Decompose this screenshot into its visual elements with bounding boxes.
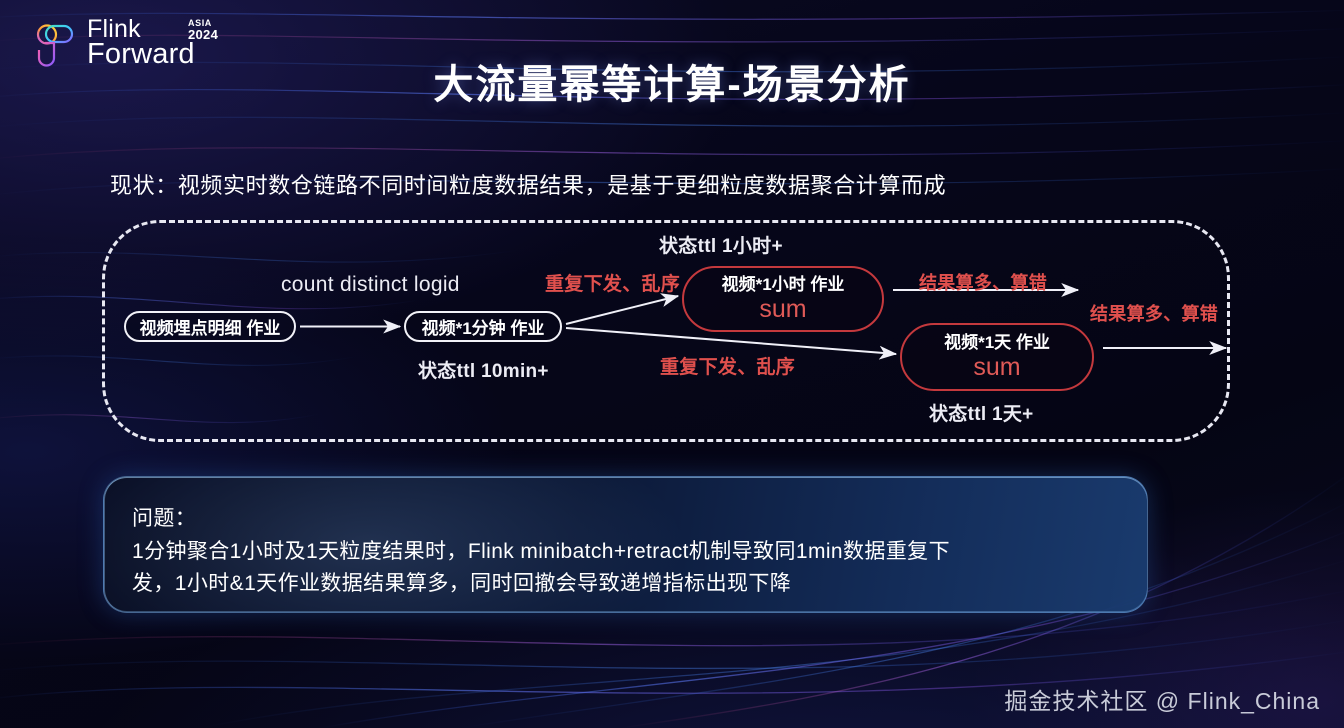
edge-label-ttl-1day: 状态ttl 1天+	[929, 399, 1034, 426]
node-label: 视频埋点明细 作业	[140, 314, 281, 339]
node-video-1day-job[interactable]: 视频*1天 作业 sum	[900, 323, 1094, 391]
node-label: 视频*1天 作业	[944, 333, 1050, 353]
current-status-text: 现状：视频实时数仓链路不同时间粒度数据结果，是基于更细粒度数据聚合计算而成	[110, 168, 946, 200]
node-video-1hour-job[interactable]: 视频*1小时 作业 sum	[682, 266, 884, 332]
edge-label-ttl-10min: 状态ttl 10min+	[418, 356, 549, 383]
node-operator: sum	[973, 354, 1020, 382]
problem-line-1: 1分钟聚合1小时及1天粒度结果时，Flink minibatch+retract…	[132, 536, 1119, 568]
node-label: 视频*1分钟 作业	[422, 314, 545, 339]
edge-label-wrong-result-1: 结果算多、算错	[919, 269, 1047, 295]
watermark-credit: 掘金技术社区 @ Flink_China	[1004, 682, 1320, 716]
slide-canvas: Flink Forward ASIA 2024 大流量幂等计算-场景分析 现状：…	[0, 0, 1344, 728]
node-label: 视频*1小时 作业	[722, 275, 845, 295]
problem-line-2: 发，1小时&1天作业数据结果算多，同时回撤会导致递增指标出现下降	[132, 568, 1119, 600]
edge-label-ttl-1hour: 状态ttl 1小时+	[659, 231, 783, 258]
brand-badge-year: 2024	[188, 28, 218, 41]
edge-label-count-distinct: count distinct logid	[281, 273, 460, 297]
problem-heading: 问题：	[132, 503, 1119, 535]
page-title: 大流量幂等计算-场景分析	[0, 52, 1344, 110]
node-video-tracking-detail-job[interactable]: 视频埋点明细 作业	[124, 311, 296, 342]
edge-label-wrong-result-2: 结果算多、算错	[1090, 300, 1218, 326]
node-operator: sum	[759, 296, 806, 324]
brand-badge: ASIA 2024	[188, 19, 218, 41]
problem-callout-box: 问题： 1分钟聚合1小时及1天粒度结果时，Flink minibatch+ret…	[103, 476, 1148, 613]
edge-label-duplicate-out-of-order-1: 重复下发、乱序	[545, 269, 680, 296]
node-video-1minute-job[interactable]: 视频*1分钟 作业	[404, 311, 562, 342]
edge-label-duplicate-out-of-order-2: 重复下发、乱序	[660, 352, 795, 379]
